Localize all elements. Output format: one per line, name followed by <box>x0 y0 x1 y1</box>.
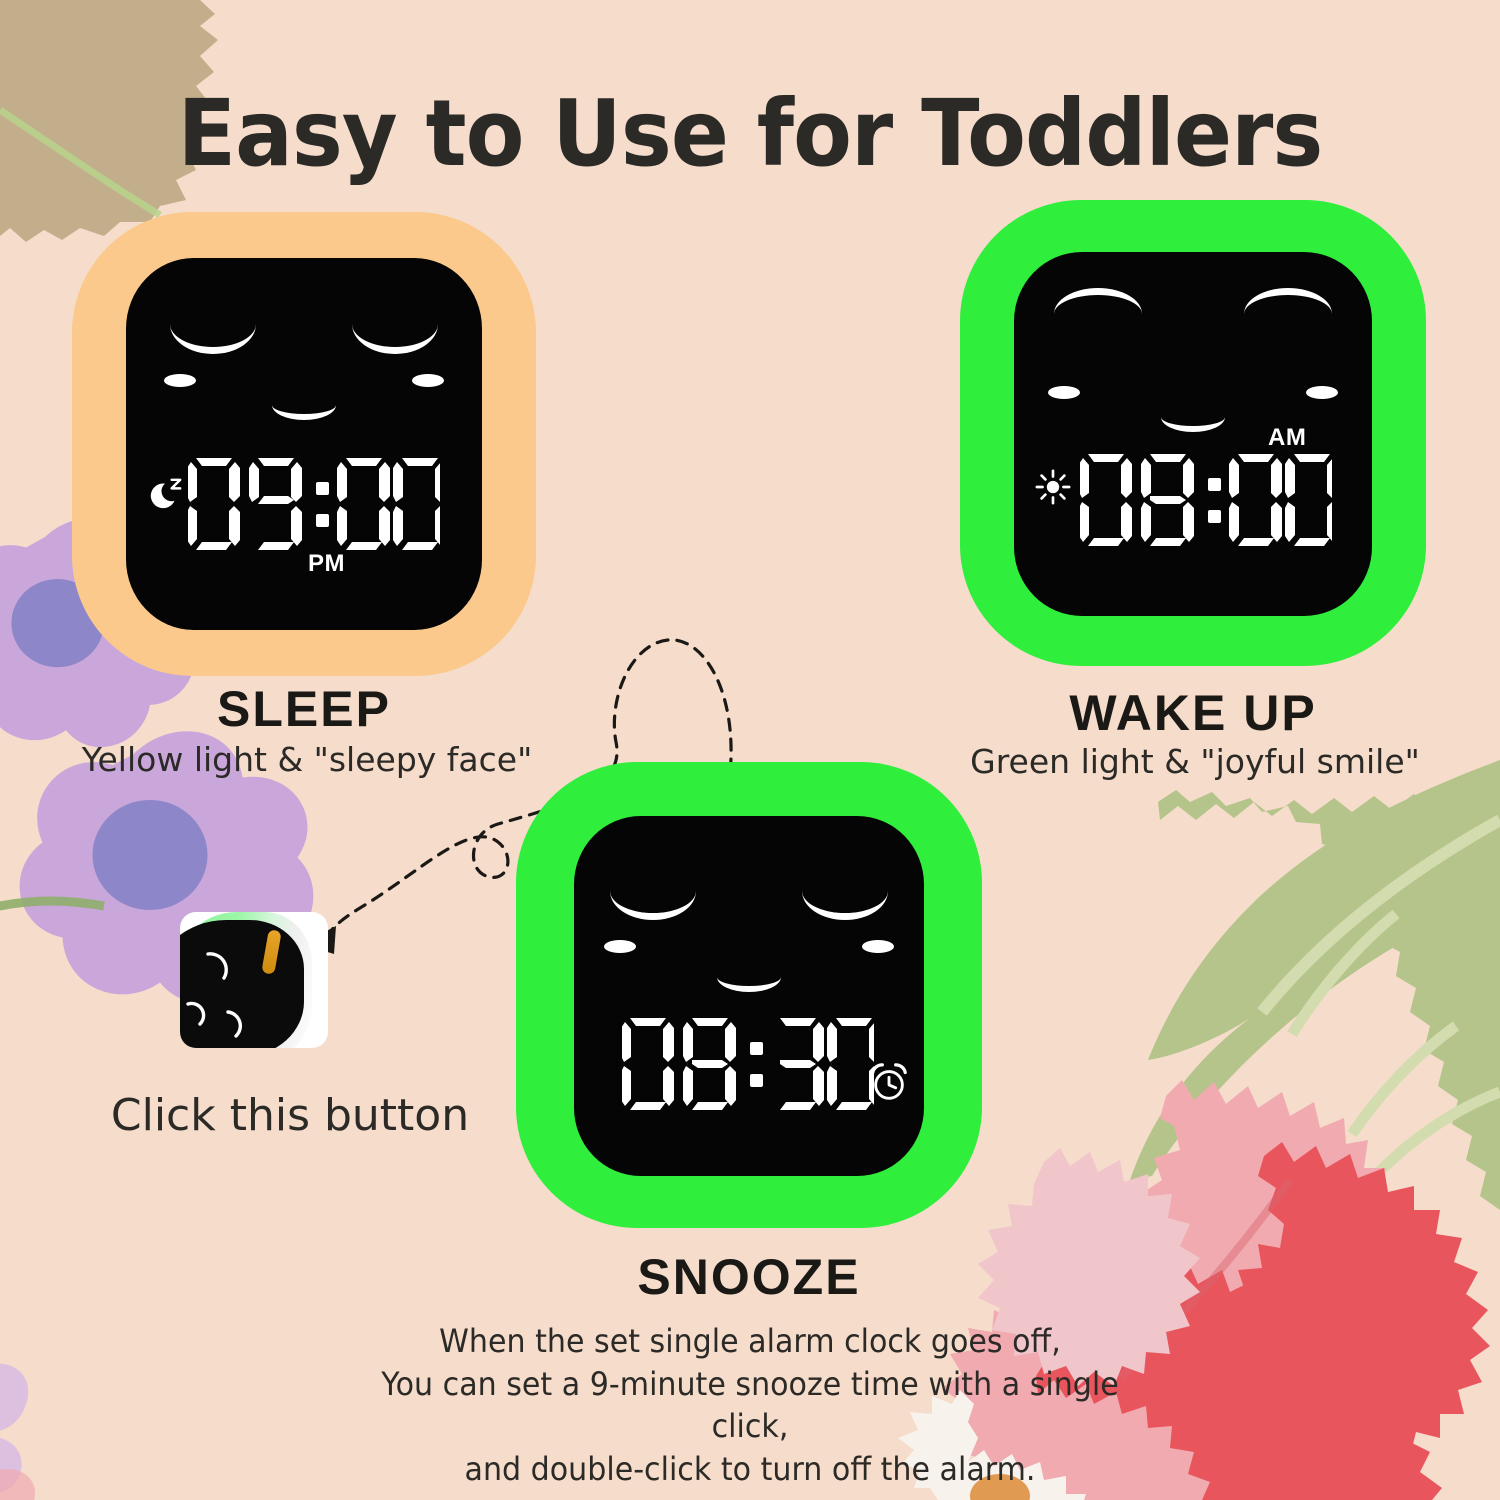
mouth-smile-icon <box>272 390 336 420</box>
seven-segment-digits <box>188 456 440 552</box>
product-button-photo <box>180 912 328 1048</box>
clock-case-wake: AM <box>960 200 1426 666</box>
clock-screen-wake: AM <box>1014 252 1372 616</box>
clock-caption-wake: Green light & "joyful smile" <box>930 742 1460 781</box>
clock-card-sleep: PM <box>72 212 536 676</box>
face-detail-icon <box>186 948 266 1044</box>
eye-left-sleepy-icon <box>610 862 696 920</box>
cheek-right-icon <box>862 940 894 953</box>
meridiem-sleep: PM <box>308 550 345 578</box>
clock-screen-sleep: PM <box>126 258 482 630</box>
mouth-smile-icon <box>1161 402 1225 432</box>
sun-icon <box>1034 468 1072 506</box>
eye-right-sleepy-icon <box>802 862 888 920</box>
caption-line: When the set single alarm clock goes off… <box>355 1320 1145 1363</box>
meridiem-wake: AM <box>1268 424 1306 452</box>
time-display-sleep <box>188 456 440 552</box>
clock-case-snooze <box>516 762 982 1228</box>
callout-label: Click this button <box>60 1090 520 1141</box>
eye-left-sleepy-icon <box>170 294 256 354</box>
seven-segment-digits <box>1080 452 1332 548</box>
clock-caption-sleep: Yellow light & "sleepy face" <box>32 740 582 779</box>
pink-accent-icon <box>0 1469 35 1500</box>
time-display-snooze <box>622 1016 874 1112</box>
eye-right-sleepy-icon <box>352 294 438 354</box>
cheek-right-icon <box>1306 386 1338 399</box>
mouth-smile-icon <box>717 962 781 992</box>
sage-leaf-icon <box>1130 760 1500 1210</box>
eye-right-happy-icon <box>1244 288 1332 340</box>
infographic-canvas: Easy to Use for Toddlers <box>0 0 1500 1500</box>
clock-screen-snooze <box>574 816 924 1176</box>
pink-petal-icon <box>1130 1080 1396 1364</box>
clock-heading-sleep: SLEEP <box>72 680 536 738</box>
seven-segment-digits <box>622 1016 874 1112</box>
clock-case-sleep: PM <box>72 212 536 676</box>
time-display-wake <box>1080 452 1332 548</box>
cheek-left-icon <box>1048 386 1080 399</box>
clock-card-snooze <box>516 762 982 1228</box>
clock-card-wake: AM <box>960 200 1426 666</box>
caption-line: You can set a 9-minute snooze time with … <box>355 1363 1145 1448</box>
alarm-bell-icon <box>868 1062 910 1104</box>
clock-heading-snooze: SNOOZE <box>516 1248 982 1306</box>
cheek-left-icon <box>164 374 196 387</box>
clock-caption-snooze: When the set single alarm clock goes off… <box>355 1320 1145 1490</box>
purple-petal-icon <box>0 1364 28 1494</box>
page-title: Easy to Use for Toddlers <box>53 80 1448 187</box>
eye-left-happy-icon <box>1054 288 1142 340</box>
cheek-right-icon <box>412 374 444 387</box>
cheek-left-icon <box>604 940 636 953</box>
clock-heading-wake: WAKE UP <box>960 684 1426 742</box>
moon-z-icon <box>146 476 184 514</box>
caption-line: and double-click to turn off the alarm. <box>355 1448 1145 1491</box>
